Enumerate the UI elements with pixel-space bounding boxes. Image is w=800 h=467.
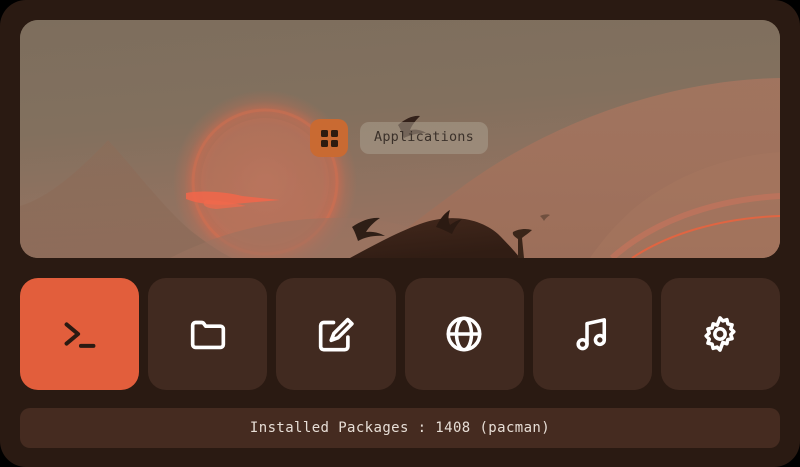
dock-item-music[interactable]: [533, 278, 652, 390]
app-frame: Applications: [0, 0, 800, 467]
globe-icon: [441, 311, 487, 357]
pencil-square-icon: [313, 311, 359, 357]
status-bar: Installed Packages : 1408 (pacman): [20, 408, 780, 448]
dock-item-files[interactable]: [148, 278, 267, 390]
terminal-icon: [57, 311, 103, 357]
grid-icon[interactable]: [310, 119, 348, 157]
folder-icon: [185, 311, 231, 357]
dock-item-terminal[interactable]: [20, 278, 139, 390]
wallpaper-panel: Applications: [20, 20, 780, 258]
dock: [20, 278, 780, 390]
music-note-icon: [569, 311, 615, 357]
gear-icon: [697, 311, 743, 357]
applications-launcher[interactable]: Applications: [310, 119, 488, 157]
dock-item-settings[interactable]: [661, 278, 780, 390]
dock-item-editor[interactable]: [276, 278, 395, 390]
grid-glyph: [321, 130, 338, 147]
installed-packages-text: Installed Packages : 1408 (pacman): [250, 421, 550, 435]
applications-tooltip: Applications: [360, 122, 488, 155]
dock-item-browser[interactable]: [405, 278, 524, 390]
